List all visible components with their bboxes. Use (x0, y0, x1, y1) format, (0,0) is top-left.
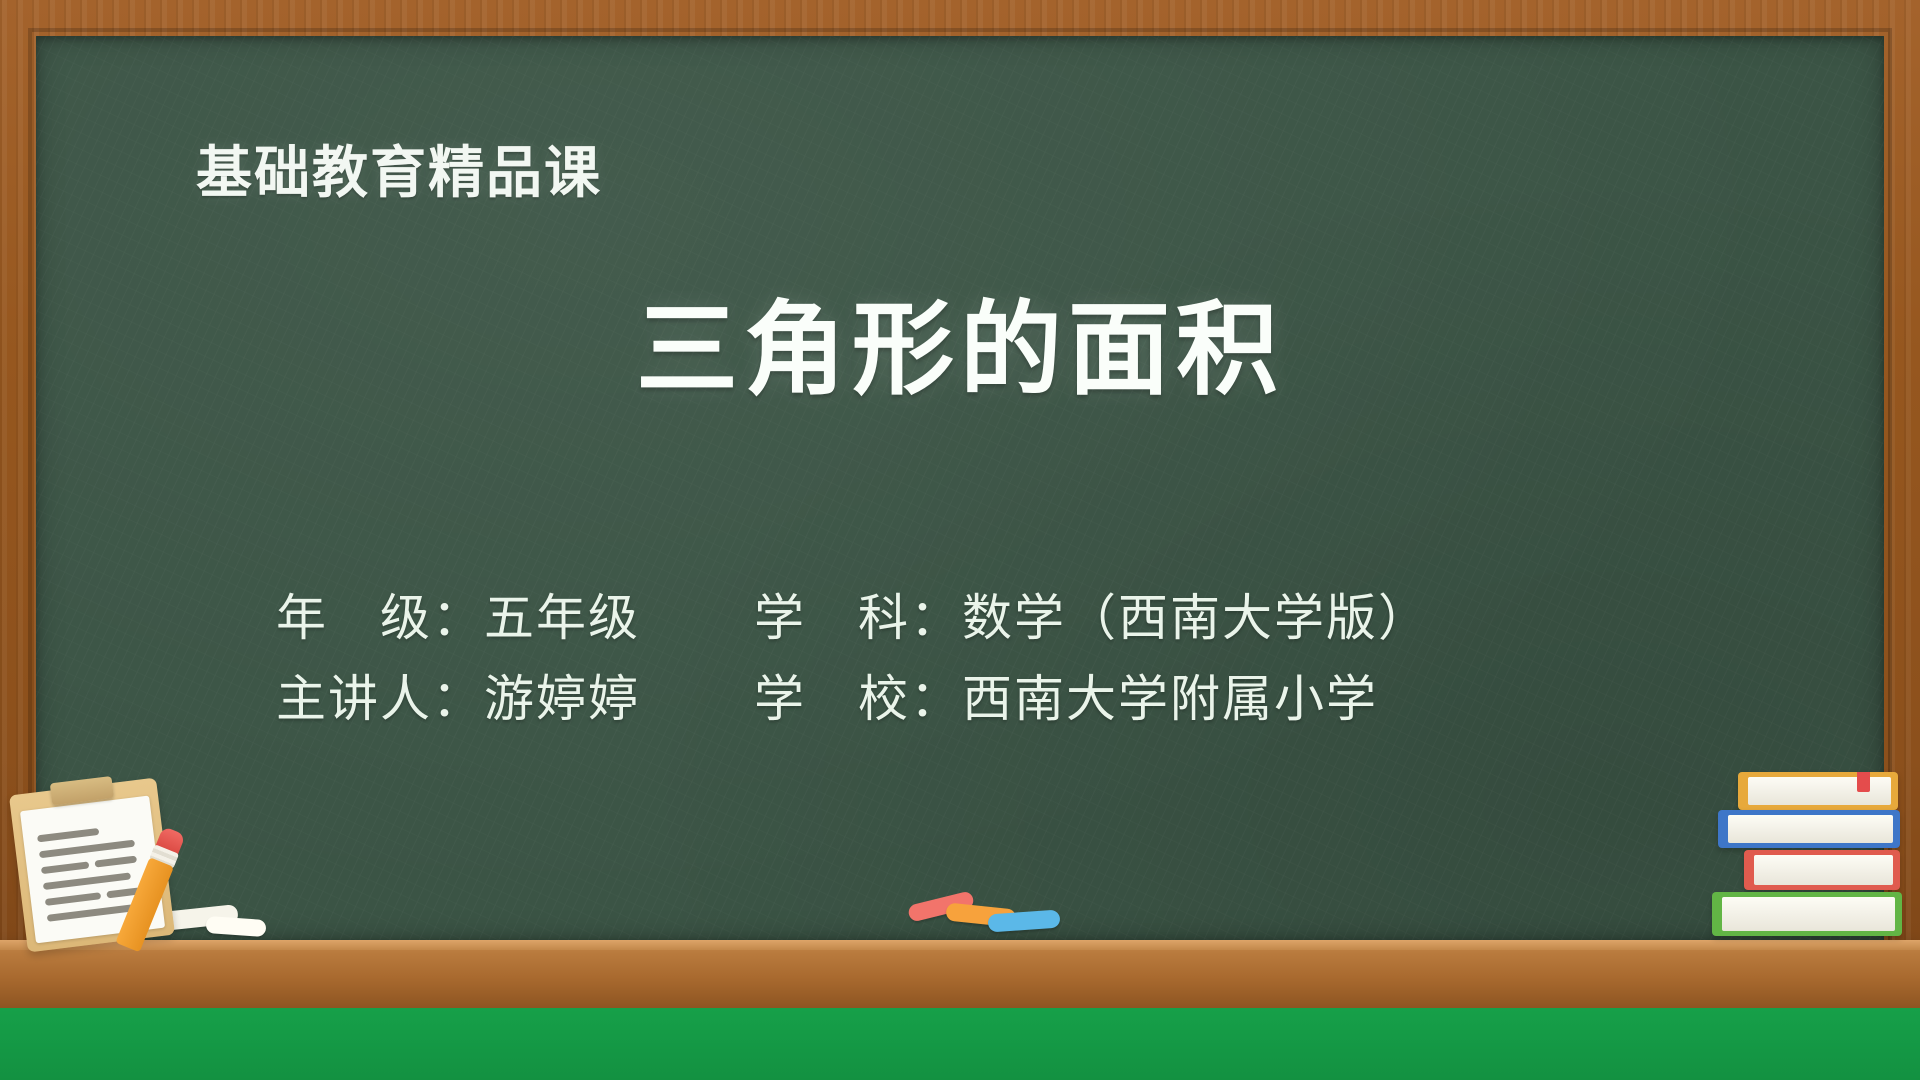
paper-line (37, 828, 99, 843)
meta-presenter: 主讲人：游婷婷 (36, 669, 716, 730)
meta-subject: 学 科：数学（西南大学版） (716, 588, 1430, 649)
course-meta: 年 级：五年级 学 科：数学（西南大学版） 主讲人：游婷婷 学 校：西南大学附属… (36, 588, 1884, 750)
course-title-slide: 基础教育精品课 三角形的面积 年 级：五年级 学 科：数学（西南大学版） 主讲人… (0, 0, 1920, 1080)
bookmark-icon (1857, 772, 1870, 792)
paper-line (45, 892, 101, 906)
book-stack-icon (1704, 772, 1904, 950)
meta-school: 学 校：西南大学附属小学 (716, 669, 1378, 730)
paper-line (41, 861, 89, 874)
book-red (1744, 850, 1900, 890)
kicker-text: 基础教育精品课 (196, 128, 602, 209)
paper-line (39, 840, 135, 859)
blackboard-surface: 基础教育精品课 三角形的面积 年 级：五年级 学 科：数学（西南大学版） 主讲人… (36, 36, 1884, 940)
book-green (1712, 892, 1902, 936)
chalk-ledge (0, 940, 1920, 1008)
book-yellow (1738, 772, 1898, 810)
paper-line (43, 872, 131, 890)
book-pages (1722, 897, 1895, 931)
page-title: 三角形的面积 (36, 268, 1884, 415)
chalk-ledge-highlight (0, 940, 1920, 950)
floor-strip (0, 1008, 1920, 1080)
paper-line (94, 856, 137, 868)
meta-row: 主讲人：游婷婷 学 校：西南大学附属小学 (36, 669, 1884, 730)
meta-row: 年 级：五年级 学 科：数学（西南大学版） (36, 588, 1884, 649)
book-pages (1728, 815, 1893, 843)
book-pages (1754, 855, 1893, 885)
meta-grade: 年 级：五年级 (36, 588, 716, 649)
book-blue (1718, 810, 1900, 848)
